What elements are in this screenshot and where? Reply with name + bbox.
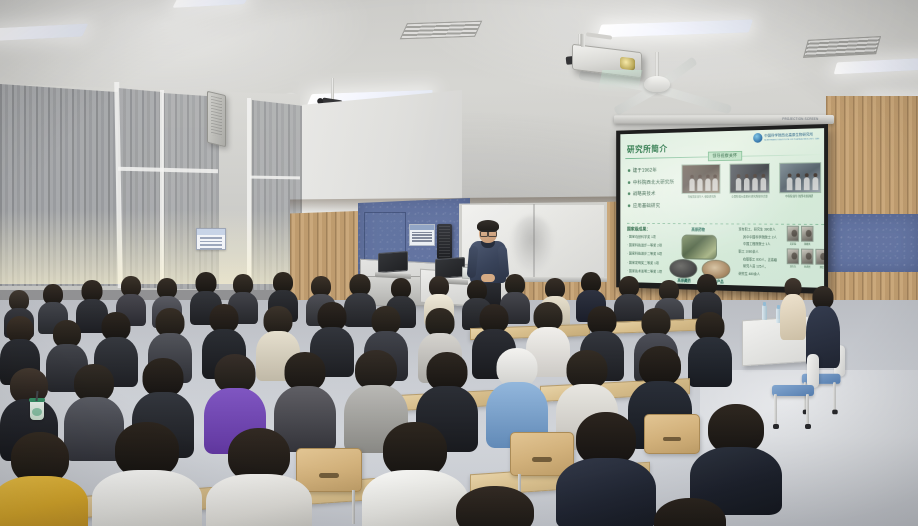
bullet-icon bbox=[628, 192, 631, 195]
portrait-name: 吴征镒 bbox=[787, 241, 799, 245]
window-curtain bbox=[0, 84, 118, 286]
whiteboard-shadow bbox=[510, 216, 554, 274]
slide-title: 研究所简介 bbox=[627, 142, 668, 155]
institute-logo-icon bbox=[753, 133, 762, 143]
window-frame bbox=[160, 90, 164, 290]
bullet-icon bbox=[628, 169, 631, 172]
bullet-icon bbox=[628, 204, 631, 207]
list-item: · 国家科技进步二等奖 5项 bbox=[627, 252, 662, 257]
wood-paneling-right bbox=[826, 96, 918, 216]
portrait-name: 郑度 bbox=[815, 265, 824, 269]
portrait-photo bbox=[801, 226, 813, 242]
portrait-name: 孙鸿烈 bbox=[801, 264, 813, 268]
wall-poster bbox=[409, 224, 435, 246]
slide-photo bbox=[729, 163, 769, 194]
product-label: 高原药物 bbox=[683, 228, 713, 233]
portrait-photo bbox=[801, 249, 813, 265]
wall-notice-sign bbox=[196, 228, 226, 250]
photo-section-heading: 领导视察关怀 bbox=[708, 151, 742, 161]
photo-caption: 中科院领导 到所考察调研 bbox=[777, 195, 821, 199]
audience-member bbox=[486, 348, 548, 438]
window-curtain bbox=[118, 88, 162, 288]
stat-line: 中国工程院院士 1人 bbox=[739, 242, 787, 247]
audience-member bbox=[92, 422, 202, 526]
achievements-heading: 国家级成果： bbox=[627, 227, 650, 233]
air-vent-icon bbox=[400, 21, 482, 40]
portrait-grid: 吴征镒 施雅风 刘东生 孙鸿烈 郑度 bbox=[787, 226, 824, 272]
audience-member bbox=[688, 312, 732, 378]
stat-line: 职工 1080余人 bbox=[739, 250, 787, 255]
list-item: 应用基础研究 bbox=[628, 202, 674, 209]
glasses-icon bbox=[480, 230, 497, 234]
slide-photo-section: 领导视察关怀 党和国家领导人 视察研究所 全国科技大会期间 研究所领导合影 bbox=[682, 150, 822, 218]
slide-bullet-list: 建于1962年 中科院西北大研究所 战略高技术 应用基础研究 bbox=[628, 167, 674, 209]
slide-photo bbox=[779, 162, 821, 193]
audience bbox=[0, 272, 918, 526]
wall-speaker-icon bbox=[207, 91, 226, 147]
stat-line: 研究人员 125人， bbox=[739, 264, 787, 269]
product-image bbox=[682, 235, 717, 260]
roller-label: PROJECTION SCREEN bbox=[782, 117, 818, 121]
achievements-list: · 国家自然科学奖 1项 · 国家科技进步一等奖 2项 · 国家科技进步二等奖 … bbox=[627, 235, 662, 275]
lecture-hall-photo: PROJECTION SCREEN 中国科学院西北高原生物研究所 NORTHWE… bbox=[0, 0, 918, 526]
slide-divider bbox=[627, 223, 824, 225]
stat-line: 其中中国科学院院士 2人 bbox=[739, 235, 787, 240]
portrait-name: 施雅风 bbox=[801, 242, 813, 246]
slide-stats: 现有职工、研究生 380余人 其中中国科学院院士 2人 中国工程院院士 1人 职… bbox=[739, 227, 787, 277]
chair-leg bbox=[352, 490, 355, 524]
list-item: · 国家科技进步一等奖 2项 bbox=[627, 243, 662, 248]
photo-caption: 党和国家领导人 视察研究所 bbox=[682, 196, 723, 200]
bullet-icon bbox=[628, 181, 631, 184]
projection-screen: 中国科学院西北高原生物研究所 NORTHWEST INSTITUTE OF PL… bbox=[616, 124, 828, 294]
stat-line: 在职职工 830人，正高级 bbox=[739, 257, 787, 262]
list-item: 中科院西北大研究所 bbox=[628, 178, 674, 185]
logo-name-en: NORTHWEST INSTITUTE OF PLATEAU BIOLOGY, … bbox=[764, 138, 819, 141]
ceiling-fan-icon bbox=[644, 76, 670, 92]
list-item: · 国家自然科学奖 1项 bbox=[627, 235, 662, 240]
institute-logo: 中国科学院西北高原生物研究所 NORTHWEST INSTITUTE OF PL… bbox=[753, 131, 819, 143]
wall-speaker-icon bbox=[437, 224, 452, 259]
portrait-photo bbox=[787, 226, 799, 242]
portrait-photo bbox=[787, 248, 799, 264]
audience-member bbox=[206, 428, 312, 526]
stat-line: 现有职工、研究生 380余人 bbox=[739, 227, 787, 232]
audience-member bbox=[440, 486, 550, 526]
list-item: 建于1962年 bbox=[628, 167, 674, 174]
portrait-name: 刘东生 bbox=[787, 264, 799, 268]
projection-screen-roller: PROJECTION SCREEN bbox=[614, 115, 834, 124]
audience-member bbox=[690, 404, 782, 512]
portrait-photo bbox=[815, 249, 824, 265]
window-frame bbox=[247, 98, 251, 290]
list-item: 战略高技术 bbox=[628, 190, 674, 197]
slide-photo bbox=[682, 164, 721, 194]
list-item: · 国家发明奖二等奖 1项 bbox=[627, 260, 662, 265]
drink-cup bbox=[30, 400, 44, 420]
audience-member bbox=[640, 498, 740, 526]
mount-pipe bbox=[331, 78, 334, 100]
photo-caption: 全国科技大会期间 研究所领导合影 bbox=[729, 195, 771, 199]
presentation-slide: 中国科学院西北高原生物研究所 NORTHWEST INSTITUTE OF PL… bbox=[620, 128, 824, 288]
audience-member bbox=[0, 432, 88, 526]
blue-acoustic-panel bbox=[826, 214, 918, 272]
